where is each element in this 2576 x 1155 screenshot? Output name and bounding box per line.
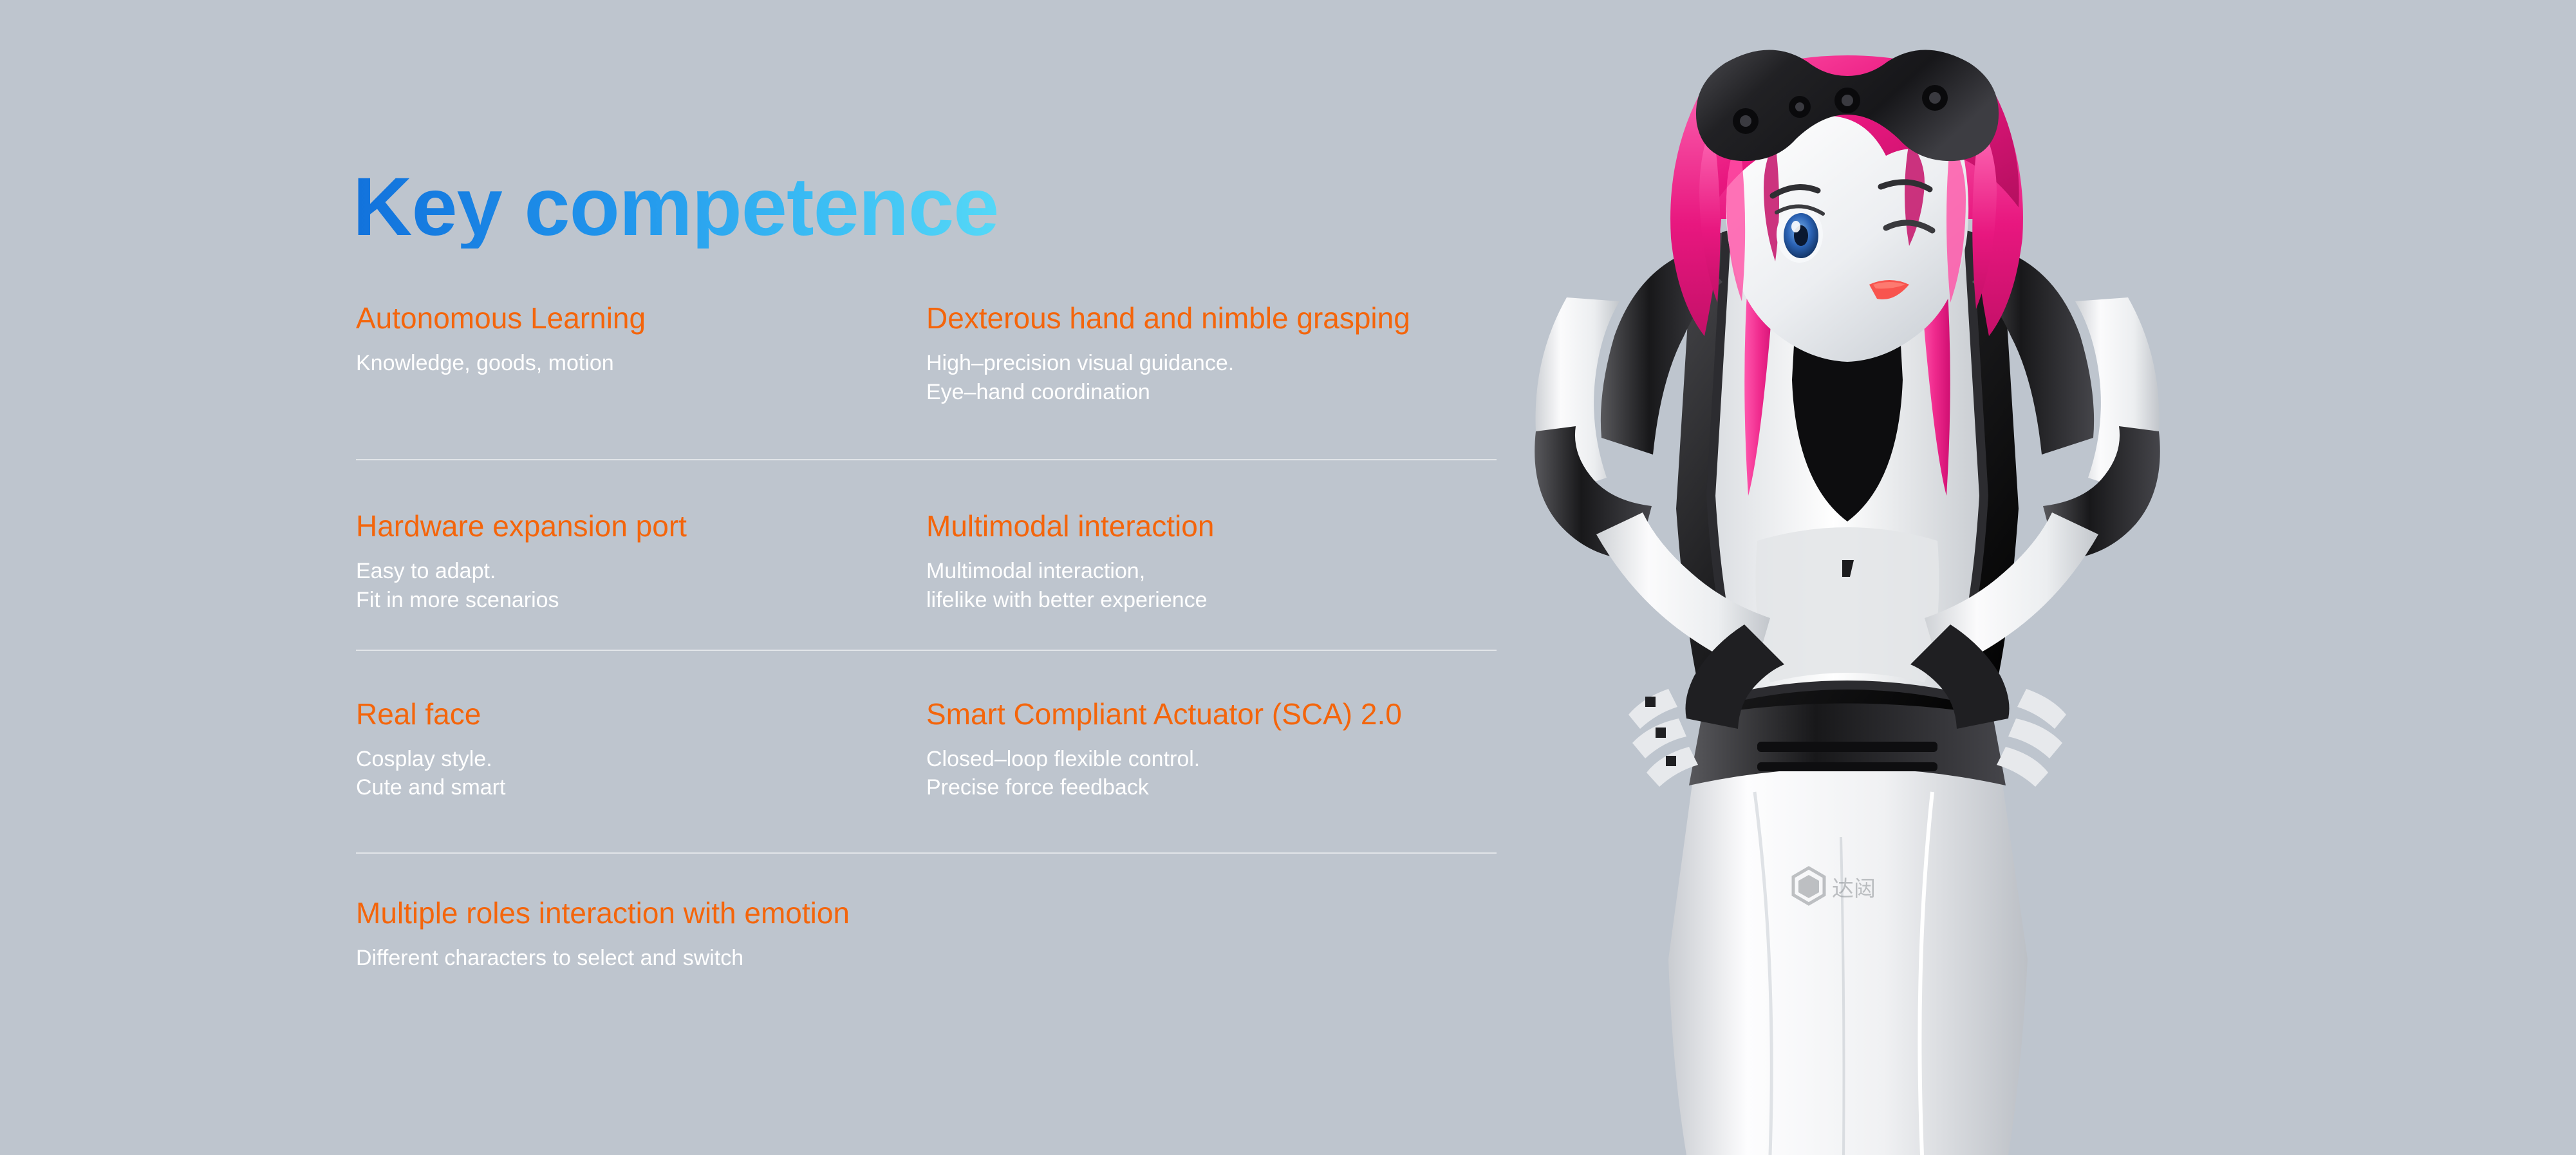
spacer — [356, 406, 1497, 459]
feature-row-4: Multiple roles interaction with emotion … — [356, 897, 1497, 973]
feature-description: Easy to adapt. Fit in more scenarios — [356, 557, 907, 615]
feature-description: High–precision visual guidance. Eye–hand… — [926, 349, 1477, 407]
feature-grid: Autonomous Learning Knowledge, goods, mo… — [356, 303, 1497, 973]
feature-description: Closed–loop flexible control. Precise fo… — [926, 745, 1477, 803]
robot-chest-lower-dome — [1756, 527, 1939, 682]
feature-heading: Real face — [356, 699, 907, 731]
feature-heading: Multimodal interaction — [926, 511, 1477, 543]
robot-figure: 达闼 — [1500, 45, 2195, 1155]
feature-heading: Multiple roles interaction with emotion — [356, 897, 1477, 930]
feature-heading: Autonomous Learning — [356, 303, 907, 335]
feature-description: Different characters to select and switc… — [356, 944, 1477, 973]
robot-visor-lens-4 — [1929, 92, 1941, 104]
robot-visor-lens-1 — [1740, 115, 1751, 127]
spacer — [356, 651, 1497, 699]
robot-illustration: 达闼 — [1500, 45, 2195, 1155]
slide-root: Key competence Autonomous Learning Knowl… — [0, 0, 2576, 1155]
feature-description: Multimodal interaction, lifelike with be… — [926, 557, 1477, 615]
feature-heading: Hardware expansion port — [356, 511, 907, 543]
robot-lower-body — [1668, 762, 2028, 1155]
robot-visor-lens-3 — [1842, 95, 1853, 106]
feature-item-autonomous-learning: Autonomous Learning Knowledge, goods, mo… — [356, 303, 926, 406]
robot-visor-lens-2 — [1795, 102, 1804, 111]
feature-row-1: Autonomous Learning Knowledge, goods, mo… — [356, 303, 1497, 406]
spacer — [356, 802, 1497, 852]
feature-item-smart-compliant-actuator: Smart Compliant Actuator (SCA) 2.0 Close… — [926, 699, 1497, 802]
feature-item-real-face: Real face Cosplay style. Cute and smart — [356, 699, 926, 802]
spacer — [356, 854, 1497, 897]
feature-heading: Dexterous hand and nimble grasping — [926, 303, 1477, 335]
spacer — [356, 615, 1497, 650]
feature-description: Knowledge, goods, motion — [356, 349, 907, 378]
robot-eye-left-highlight — [1791, 221, 1800, 232]
robot-pelvis-slot-2 — [1757, 762, 1937, 771]
robot-pelvis-slot-1 — [1757, 742, 1937, 752]
feature-heading: Smart Compliant Actuator (SCA) 2.0 — [926, 699, 1477, 731]
feature-item-dexterous-hand: Dexterous hand and nimble grasping High–… — [926, 303, 1497, 406]
feature-item-multimodal-interaction: Multimodal interaction Multimodal intera… — [926, 511, 1497, 614]
feature-item-hardware-expansion-port: Hardware expansion port Easy to adapt. F… — [356, 511, 926, 614]
feature-description: Cosplay style. Cute and smart — [356, 745, 907, 803]
brand-logo-text: 达闼 — [1832, 876, 1876, 902]
page-title: Key competence — [353, 166, 998, 249]
feature-row-3: Real face Cosplay style. Cute and smart … — [356, 699, 1497, 802]
feature-item-multiple-roles-interaction: Multiple roles interaction with emotion … — [356, 897, 1497, 973]
spacer — [356, 460, 1497, 511]
feature-row-2: Hardware expansion port Easy to adapt. F… — [356, 511, 1497, 614]
